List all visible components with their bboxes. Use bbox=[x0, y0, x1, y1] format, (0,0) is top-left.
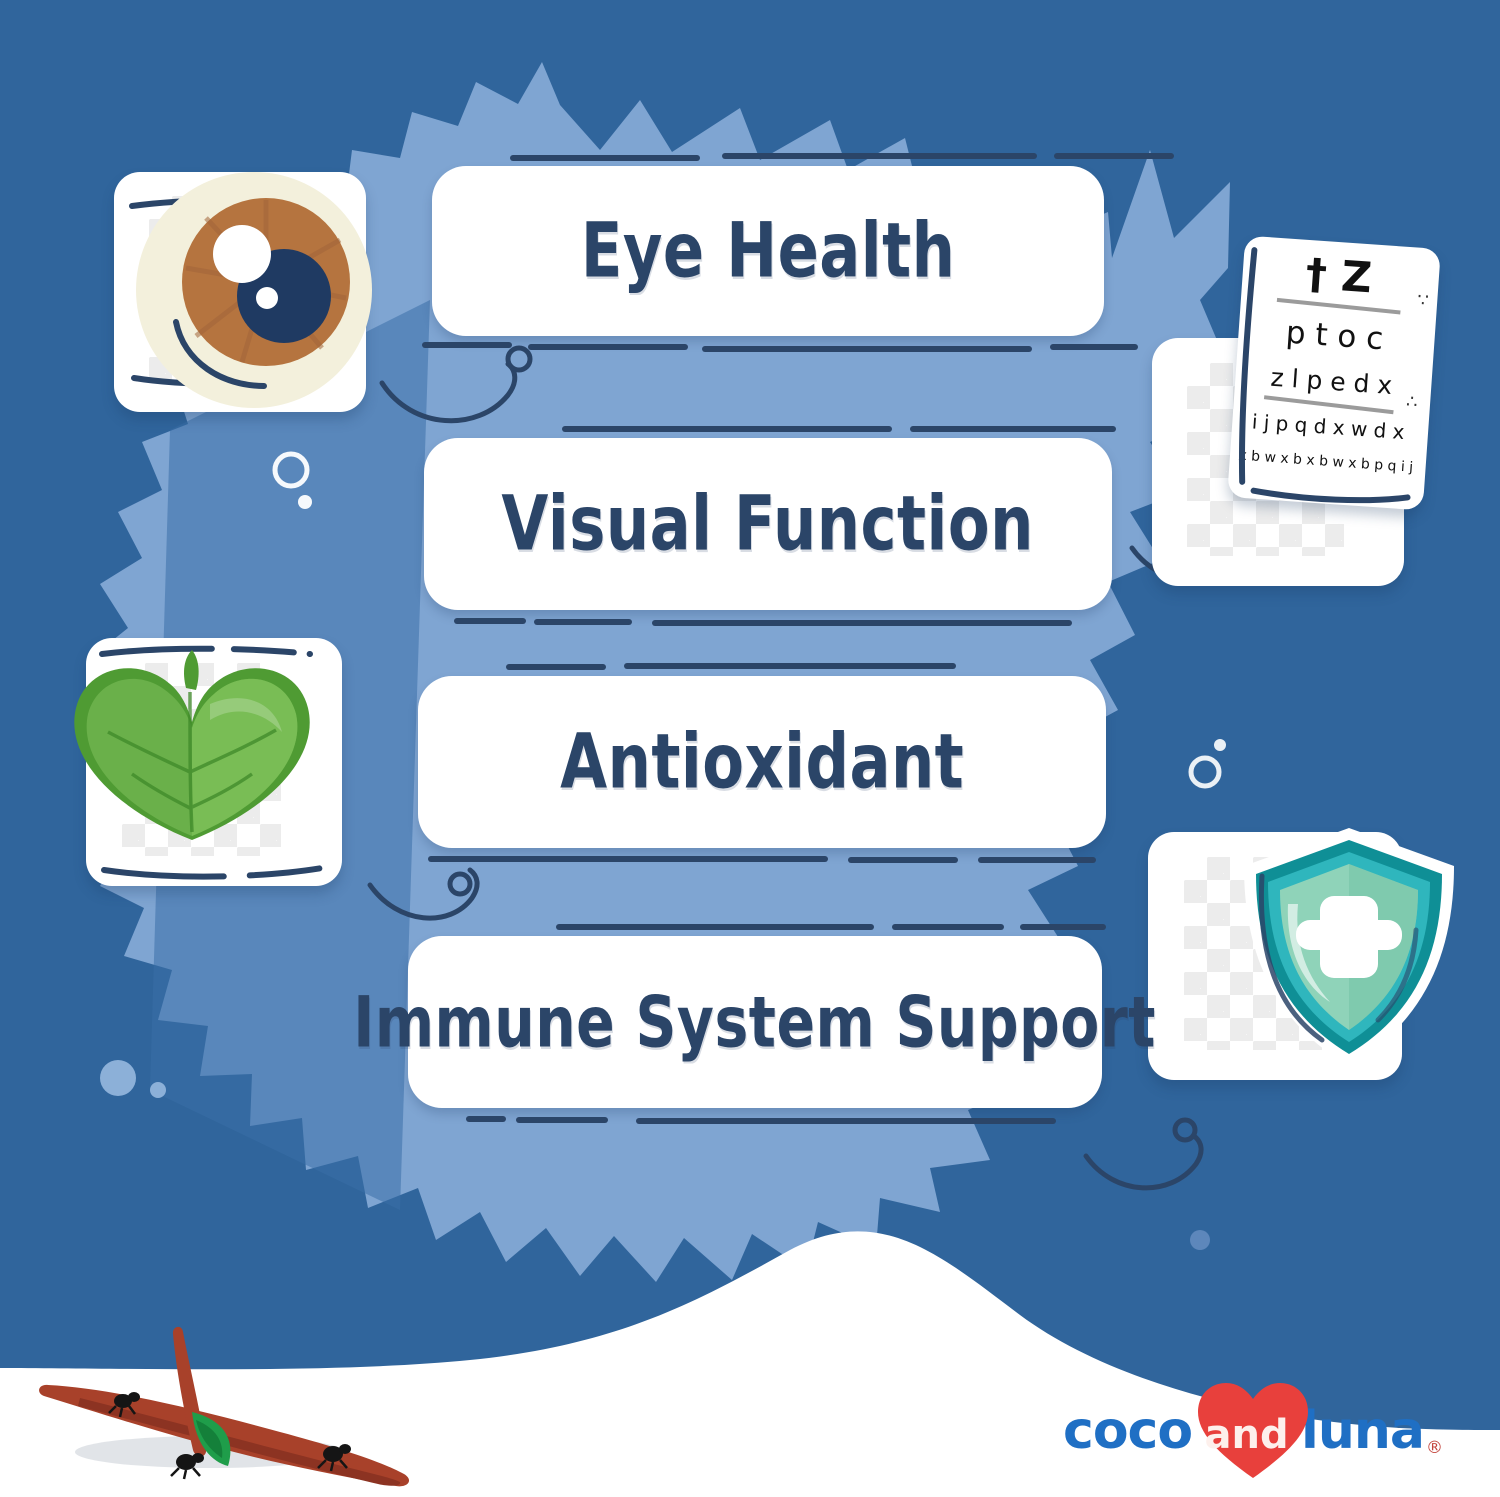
benefit-card-visual-function[interactable]: Visual Function bbox=[424, 438, 1112, 610]
chart-row-2: p t o c bbox=[1285, 315, 1385, 358]
sketch-dash bbox=[528, 344, 688, 350]
sketch-dash bbox=[702, 346, 1032, 352]
sketch-dash bbox=[892, 924, 1004, 930]
benefit-label: Visual Function bbox=[502, 486, 1034, 562]
logo-word-and: and bbox=[1205, 1415, 1289, 1455]
benefit-card-surface[interactable]: Eye Health bbox=[432, 166, 1104, 336]
sketch-dash bbox=[516, 1117, 608, 1123]
sketch-dash bbox=[1054, 153, 1174, 159]
infographic-canvas: † Z p t o c z l p e d x i j p q d x w d … bbox=[0, 0, 1500, 1497]
benefit-label: Immune System Support bbox=[354, 987, 1157, 1058]
sketch-dash bbox=[848, 857, 958, 863]
benefit-card-surface[interactable]: Visual Function bbox=[424, 438, 1112, 610]
shield-cross-icon bbox=[1238, 826, 1460, 1068]
benefit-label: Eye Health bbox=[581, 213, 956, 289]
sketch-dash bbox=[534, 619, 632, 625]
brand-logo[interactable]: coco and luna ® bbox=[1063, 1392, 1443, 1470]
benefit-label: Antioxidant bbox=[560, 724, 964, 800]
logo-word-luna: luna bbox=[1301, 1405, 1424, 1457]
sketch-dash bbox=[636, 1118, 1056, 1124]
logo-heart: and bbox=[1194, 1392, 1299, 1470]
benefit-card-surface[interactable]: Antioxidant bbox=[418, 676, 1106, 848]
eye-chart-icon: † Z p t o c z l p e d x i j p q d x w d … bbox=[1227, 235, 1441, 510]
sketch-dash bbox=[1020, 924, 1106, 930]
eye-chart-card: † Z p t o c z l p e d x i j p q d x w d … bbox=[1227, 235, 1441, 510]
sketch-dash bbox=[910, 426, 1116, 432]
benefit-card-immune-support[interactable]: Immune System Support bbox=[408, 936, 1102, 1108]
sketch-dash bbox=[506, 664, 606, 670]
eye-icon bbox=[114, 172, 366, 412]
chart-row-3: z l p e d x bbox=[1270, 363, 1393, 400]
leaf-heart-icon-tile bbox=[86, 638, 342, 886]
sketch-dash bbox=[722, 153, 1037, 159]
sketch-dash bbox=[562, 426, 892, 432]
leaf-heart-icon bbox=[86, 638, 342, 886]
sketch-dash bbox=[510, 155, 700, 161]
sketch-dash bbox=[652, 620, 1072, 626]
chart-mark-2: ∴ bbox=[1405, 391, 1418, 413]
eye-icon-tile bbox=[114, 172, 366, 412]
sketch-dash bbox=[1050, 344, 1138, 350]
benefit-card-antioxidant[interactable]: Antioxidant bbox=[418, 676, 1106, 848]
chart-row-4: i j p q d x w d x bbox=[1251, 409, 1405, 444]
benefit-card-surface[interactable]: Immune System Support bbox=[408, 936, 1102, 1108]
sketch-dash bbox=[422, 342, 512, 348]
chart-row-1: † Z bbox=[1304, 249, 1373, 302]
sketch-dash bbox=[428, 856, 828, 862]
chart-mark-1: ∵ bbox=[1417, 290, 1430, 312]
registered-mark: ® bbox=[1424, 1438, 1443, 1470]
logo-word-coco: coco bbox=[1063, 1405, 1192, 1457]
sketch-dash bbox=[556, 924, 874, 930]
sketch-dash bbox=[624, 663, 956, 669]
sketch-dash bbox=[454, 618, 526, 624]
sketch-dash bbox=[978, 857, 1096, 863]
benefit-card-eye-health[interactable]: Eye Health bbox=[432, 166, 1104, 336]
sketch-dash bbox=[466, 1116, 506, 1122]
chart-row-5: x b w x b x b w x b p q i j bbox=[1238, 448, 1414, 476]
